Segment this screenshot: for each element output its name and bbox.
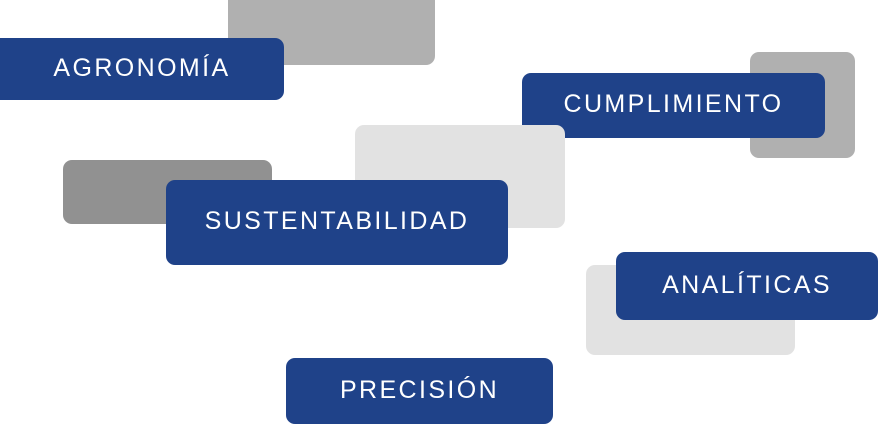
tag-agronomia-label: AGRONOMÍA <box>53 56 230 81</box>
tag-precision-label: PRECISIÓN <box>340 378 499 403</box>
tag-cumplimiento[interactable]: CUMPLIMIENTO <box>522 73 825 138</box>
tag-agronomia[interactable]: AGRONOMÍA <box>0 38 284 100</box>
tag-analiticas[interactable]: ANALÍTICAS <box>616 252 878 320</box>
tag-collage-canvas: AGRONOMÍA CUMPLIMIENTO SUSTENTABILIDAD A… <box>0 0 884 426</box>
tag-sustentabilidad-label: SUSTENTABILIDAD <box>205 209 470 234</box>
tag-analiticas-label: ANALÍTICAS <box>662 273 832 298</box>
tag-cumplimiento-label: CUMPLIMIENTO <box>563 92 783 117</box>
tag-precision[interactable]: PRECISIÓN <box>286 358 553 424</box>
tag-sustentabilidad[interactable]: SUSTENTABILIDAD <box>166 180 508 265</box>
